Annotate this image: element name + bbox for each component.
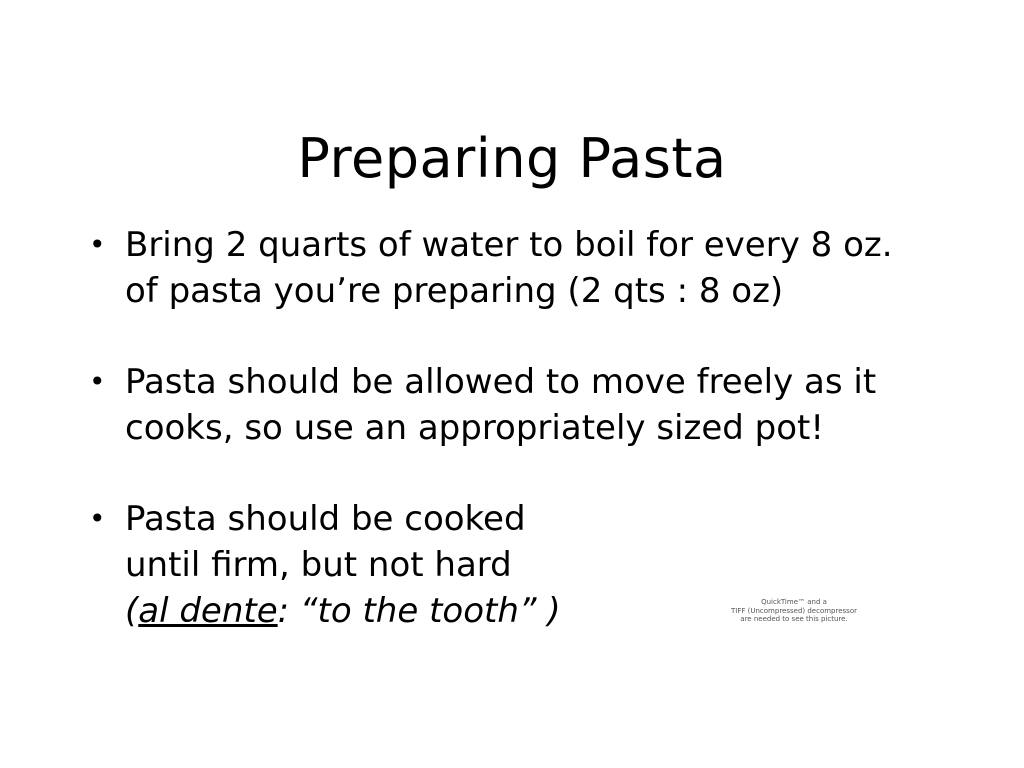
page-title: Preparing Pasta [0, 128, 1024, 190]
bullet-text-water-ratio: Bring 2 quarts of water to boil for ever… [125, 222, 936, 314]
quicktime-placeholder-line-1: QuickTime™ and a [714, 598, 874, 607]
bullet-point-icon: • [89, 222, 109, 268]
al-dente-line-2: until firm, but not hard [125, 542, 936, 588]
al-dente-translation: : “to the tooth” ) [278, 591, 561, 631]
list-item: • Pasta should be allowed to move freely… [86, 359, 936, 451]
quicktime-placeholder-line-2: TIFF (Uncompressed) decompressor [714, 607, 874, 616]
bullet-point-icon: • [89, 359, 109, 405]
quicktime-placeholder-line-3: are needed to see this picture. [714, 615, 874, 624]
bullet-point-icon: • [89, 496, 109, 542]
slide-canvas: Preparing Pasta • Bring 2 quarts of wate… [0, 0, 1024, 768]
bullet-text-move-freely: Pasta should be allowed to move freely a… [125, 359, 936, 451]
al-dente-line-1: Pasta should be cooked [125, 496, 936, 542]
quicktime-image-placeholder: QuickTime™ and a TIFF (Uncompressed) dec… [714, 598, 874, 624]
bullet-list: • Bring 2 quarts of water to boil for ev… [86, 222, 936, 634]
list-item: • Bring 2 quarts of water to boil for ev… [86, 222, 936, 314]
al-dente-open-paren: ( [125, 591, 138, 631]
al-dente-term: al dente [138, 591, 277, 631]
